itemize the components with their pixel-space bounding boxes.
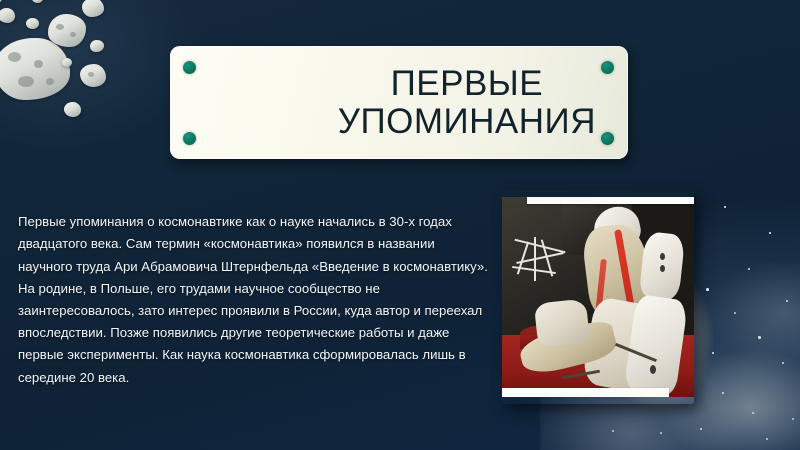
photo-image	[502, 197, 694, 397]
page-title: ПЕРВЫЕ УПОМИНАНИЯ	[338, 65, 628, 139]
screw-icon	[601, 132, 614, 145]
asteroid	[0, 8, 15, 23]
photo-frame-strip	[527, 197, 694, 204]
asteroid	[82, 0, 104, 17]
asteroid	[26, 18, 39, 29]
photo-shape	[534, 237, 536, 281]
asteroid	[32, 0, 43, 3]
asteroid	[48, 14, 86, 47]
star	[724, 206, 726, 208]
asteroid	[0, 38, 70, 100]
screw-icon	[183, 61, 196, 74]
asteroid	[64, 102, 81, 117]
slide-canvas: ПЕРВЫЕ УПОМИНАНИЯ Первые упоминания о ко…	[0, 0, 800, 450]
asteroid	[62, 58, 72, 67]
photo-shape	[650, 365, 656, 374]
screw-icon	[601, 61, 614, 74]
content-photo	[502, 190, 694, 404]
photo-shape	[534, 298, 590, 347]
asteroid	[90, 40, 104, 52]
body-paragraph: Первые упоминания о космонавтике как о н…	[18, 211, 490, 389]
photo-shape	[660, 253, 665, 260]
photo-frame-strip	[502, 388, 669, 397]
screw-icon	[183, 132, 196, 145]
asteroid	[80, 64, 106, 87]
title-plaque: ПЕРВЫЕ УПОМИНАНИЯ	[170, 46, 628, 159]
asteroid	[0, 0, 2, 4]
photo-shape	[660, 265, 665, 272]
asteroid-cluster	[0, 0, 136, 155]
